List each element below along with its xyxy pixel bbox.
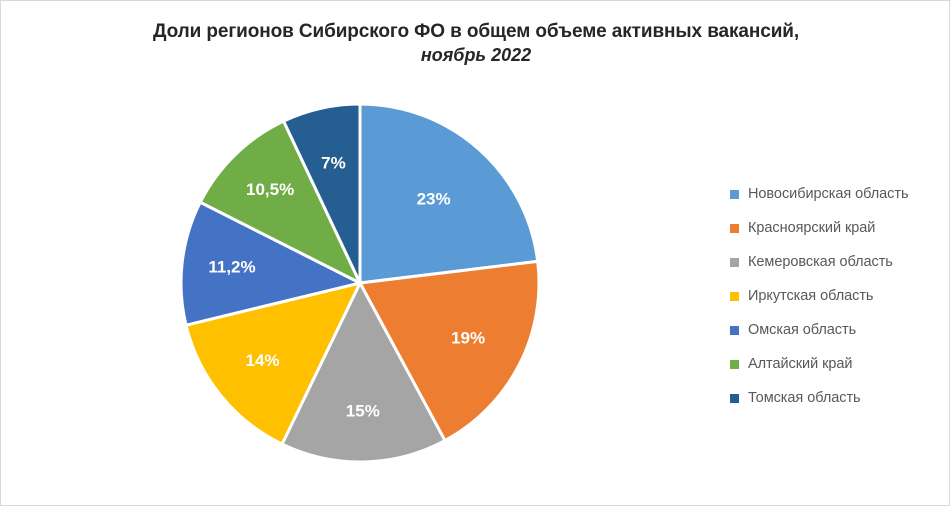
legend-item-label: Алтайский край bbox=[748, 356, 852, 372]
legend-item-label: Иркутская область bbox=[748, 288, 873, 304]
legend-color-swatch bbox=[730, 258, 739, 267]
legend-item-label: Томская область bbox=[748, 390, 861, 406]
chart-title: Доли регионов Сибирского ФО в общем объе… bbox=[81, 19, 871, 68]
legend-item-label: Омская область bbox=[748, 322, 856, 338]
pie-slice-label: 10,5% bbox=[246, 180, 294, 199]
plot-area: 23%19%15%14%11,2%10,5%7% bbox=[1, 91, 721, 507]
legend-color-swatch bbox=[730, 394, 739, 403]
legend-item[interactable]: Омская область bbox=[730, 313, 945, 347]
legend-color-swatch bbox=[730, 326, 739, 335]
pie-slice-label: 7% bbox=[321, 154, 346, 173]
pie-slice-label: 19% bbox=[451, 328, 485, 347]
legend-color-swatch bbox=[730, 190, 739, 199]
legend-item[interactable]: Алтайский край bbox=[730, 347, 945, 381]
legend-item[interactable]: Красноярский край bbox=[730, 211, 945, 245]
chart-title-subtitle: ноябрь 2022 bbox=[81, 44, 871, 68]
pie-slice-label: 23% bbox=[417, 189, 451, 208]
chart-title-line1: Доли регионов Сибирского ФО в общем объе… bbox=[81, 19, 871, 44]
legend-item[interactable]: Кемеровская область bbox=[730, 245, 945, 279]
legend-item-label: Кемеровская область bbox=[748, 254, 893, 270]
chart-container: Доли регионов Сибирского ФО в общем объе… bbox=[0, 0, 950, 506]
pie-slice-label: 15% bbox=[346, 401, 380, 420]
pie-slice-label: 14% bbox=[245, 351, 279, 370]
pie-chart: 23%19%15%14%11,2%10,5%7% bbox=[179, 102, 541, 464]
chart-legend: Новосибирская областьКрасноярский крайКе… bbox=[730, 177, 945, 415]
legend-item-label: Новосибирская область bbox=[748, 186, 908, 202]
legend-color-swatch bbox=[730, 224, 739, 233]
legend-item[interactable]: Томская область bbox=[730, 381, 945, 415]
legend-item[interactable]: Иркутская область bbox=[730, 279, 945, 313]
pie-slice-label: 11,2% bbox=[208, 258, 255, 277]
legend-item[interactable]: Новосибирская область bbox=[730, 177, 945, 211]
legend-color-swatch bbox=[730, 292, 739, 301]
legend-color-swatch bbox=[730, 360, 739, 369]
legend-item-label: Красноярский край bbox=[748, 220, 875, 236]
